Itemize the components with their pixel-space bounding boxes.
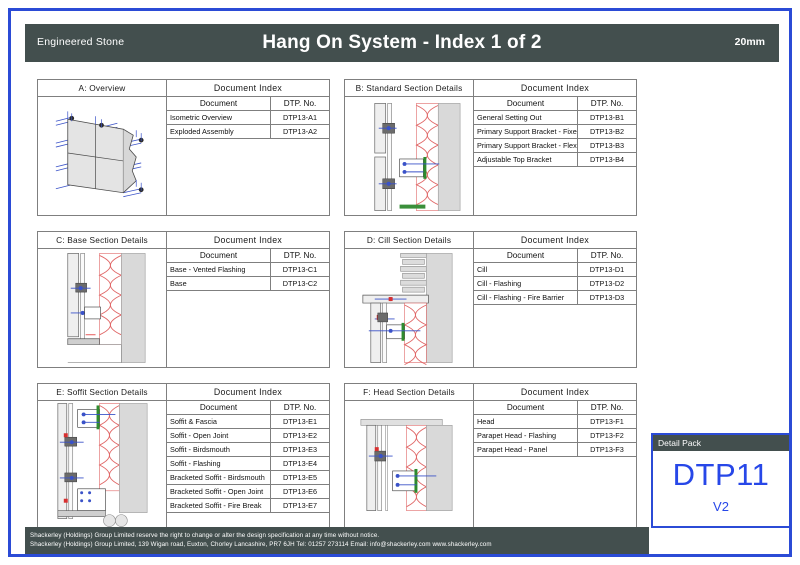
row-document: Soffit - Flashing bbox=[167, 457, 271, 471]
base-section-drawing[interactable] bbox=[38, 249, 167, 367]
row-number: DTP13-F3 bbox=[578, 443, 637, 457]
soffit-section-drawing[interactable] bbox=[38, 401, 167, 529]
row-document: Head bbox=[474, 415, 578, 429]
table-row[interactable]: Cill - Flashing - Fire Barrier DTP13-D3 bbox=[474, 291, 636, 305]
col-number: DTP. No. bbox=[271, 401, 330, 415]
table-row[interactable]: Bracketed Soffit - Fire Break DTP13-E7 bbox=[167, 499, 329, 513]
sheet-inner: Engineered Stone Hang On System - Index … bbox=[15, 15, 785, 550]
col-document: Document bbox=[474, 249, 578, 263]
row-number: DTP13-D2 bbox=[578, 277, 637, 291]
panel-e-soffit-section-details[interactable]: E: Soffit Section Details Document Index bbox=[37, 383, 330, 530]
row-number: DTP13-E5 bbox=[271, 471, 330, 485]
row-document: Bracketed Soffit - Birdsmouth bbox=[167, 471, 271, 485]
table-row[interactable]: Soffit & Fascia DTP13-E1 bbox=[167, 415, 329, 429]
col-document: Document bbox=[474, 401, 578, 415]
col-document: Document bbox=[167, 401, 271, 415]
document-index-heading: Document Index bbox=[474, 232, 636, 248]
detail-pack-label: Detail Pack bbox=[653, 435, 789, 451]
document-index-heading: Document Index bbox=[167, 80, 329, 96]
row-document: Bracketed Soffit - Open Joint bbox=[167, 485, 271, 499]
table-header-row: Document DTP. No. bbox=[474, 97, 636, 111]
panel-row: A: Overview Document Index bbox=[37, 79, 637, 216]
row-number: DTP13-B3 bbox=[578, 139, 637, 153]
table-row[interactable]: General Setting Out DTP13-B1 bbox=[474, 111, 636, 125]
row-number: DTP13-D1 bbox=[578, 263, 637, 277]
panel-body: Document DTP. No. Cill DTP13-D1 Cill - F… bbox=[345, 249, 636, 367]
col-number: DTP. No. bbox=[271, 249, 330, 263]
panel-d-cill-section-details[interactable]: D: Cill Section Details Document Index bbox=[344, 231, 637, 368]
row-document: Soffit - Birdsmouth bbox=[167, 443, 271, 457]
row-document: Cill - Flashing - Fire Barrier bbox=[474, 291, 578, 305]
detail-pack-version: V2 bbox=[653, 499, 789, 514]
panel-title: C: Base Section Details bbox=[38, 232, 167, 248]
footer-line-1: Shackerley (Holdings) Group Limited rese… bbox=[30, 531, 649, 540]
row-number: DTP13-F1 bbox=[578, 415, 637, 429]
col-number: DTP. No. bbox=[271, 97, 330, 111]
isometric-overview-drawing[interactable] bbox=[38, 97, 167, 215]
panel-header: A: Overview Document Index bbox=[38, 80, 329, 97]
footer-disclaimer: Shackerley (Holdings) Group Limited rese… bbox=[25, 527, 649, 554]
cill-section-drawing[interactable] bbox=[345, 249, 474, 367]
panel-b-standard-section-details[interactable]: B: Standard Section Details Document Ind… bbox=[344, 79, 637, 216]
document-index-table[interactable]: Document DTP. No. Head DTP13-F1 Parapet … bbox=[474, 401, 636, 457]
row-number: DTP13-C1 bbox=[271, 263, 330, 277]
row-number: DTP13-D3 bbox=[578, 291, 637, 305]
index-table-wrapper: Document DTP. No. Head DTP13-F1 Parapet … bbox=[474, 401, 636, 529]
row-number: DTP13-A2 bbox=[271, 125, 330, 139]
panel-row: C: Base Section Details Document Index bbox=[37, 231, 637, 368]
document-index-table[interactable]: Document DTP. No. Isometric Overview DTP… bbox=[167, 97, 329, 139]
col-document: Document bbox=[474, 97, 578, 111]
row-number: DTP13-E4 bbox=[271, 457, 330, 471]
row-number: DTP13-B2 bbox=[578, 125, 637, 139]
row-document: Base bbox=[167, 277, 271, 291]
panel-header: B: Standard Section Details Document Ind… bbox=[345, 80, 636, 97]
panel-header: D: Cill Section Details Document Index bbox=[345, 232, 636, 249]
row-number: DTP13-A1 bbox=[271, 111, 330, 125]
index-table-wrapper: Document DTP. No. Soffit & Fascia DTP13-… bbox=[167, 401, 329, 529]
table-row[interactable]: Isometric Overview DTP13-A1 bbox=[167, 111, 329, 125]
table-header-row: Document DTP. No. bbox=[474, 249, 636, 263]
panel-title: E: Soffit Section Details bbox=[38, 384, 167, 400]
index-table-wrapper: Document DTP. No. Isometric Overview DTP… bbox=[167, 97, 329, 215]
col-number: DTP. No. bbox=[578, 249, 637, 263]
table-row[interactable]: Soffit - Flashing DTP13-E4 bbox=[167, 457, 329, 471]
document-index-heading: Document Index bbox=[474, 384, 636, 400]
row-document: Exploded Assembly bbox=[167, 125, 271, 139]
table-header-row: Document DTP. No. bbox=[167, 97, 329, 111]
table-header-row: Document DTP. No. bbox=[474, 401, 636, 415]
row-number: DTP13-C2 bbox=[271, 277, 330, 291]
panel-body: Document DTP. No. Base - Vented Flashing… bbox=[38, 249, 329, 367]
col-document: Document bbox=[167, 97, 271, 111]
table-row[interactable]: Primary Support Bracket - Fixed Point DT… bbox=[474, 125, 636, 139]
row-document: Cill bbox=[474, 263, 578, 277]
row-number: DTP13-E6 bbox=[271, 485, 330, 499]
row-document: Parapet Head - Flashing bbox=[474, 429, 578, 443]
row-document: Primary Support Bracket - Fixed Point bbox=[474, 125, 578, 139]
panel-c-base-section-details[interactable]: C: Base Section Details Document Index bbox=[37, 231, 330, 368]
row-document: Soffit & Fascia bbox=[167, 415, 271, 429]
panel-body: Document DTP. No. Isometric Overview DTP… bbox=[38, 97, 329, 215]
document-index-table[interactable]: Document DTP. No. Soffit & Fascia DTP13-… bbox=[167, 401, 329, 513]
detail-pack-code: DTP11 bbox=[653, 457, 789, 493]
panel-grid: A: Overview Document Index bbox=[37, 79, 637, 545]
table-row[interactable]: Exploded Assembly DTP13-A2 bbox=[167, 125, 329, 139]
table-row[interactable]: Parapet Head - Panel DTP13-F3 bbox=[474, 443, 636, 457]
col-number: DTP. No. bbox=[578, 401, 637, 415]
panel-header: F: Head Section Details Document Index bbox=[345, 384, 636, 401]
row-number: DTP13-B1 bbox=[578, 111, 637, 125]
table-row[interactable]: Bracketed Soffit - Birdsmouth DTP13-E5 bbox=[167, 471, 329, 485]
document-index-table[interactable]: Document DTP. No. Base - Vented Flashing… bbox=[167, 249, 329, 291]
table-row[interactable]: Soffit - Open Joint DTP13-E2 bbox=[167, 429, 329, 443]
row-document: Primary Support Bracket - Flexi Point bbox=[474, 139, 578, 153]
table-row[interactable]: Base - Vented Flashing DTP13-C1 bbox=[167, 263, 329, 277]
page-title: Hang On System - Index 1 of 2 bbox=[25, 32, 779, 54]
document-index-table[interactable]: Document DTP. No. General Setting Out DT… bbox=[474, 97, 636, 167]
panel-title: F: Head Section Details bbox=[345, 384, 474, 400]
index-table-wrapper: Document DTP. No. Base - Vented Flashing… bbox=[167, 249, 329, 367]
row-document: Bracketed Soffit - Fire Break bbox=[167, 499, 271, 513]
row-number: DTP13-E2 bbox=[271, 429, 330, 443]
row-document: Cill - Flashing bbox=[474, 277, 578, 291]
table-row[interactable]: Adjustable Top Bracket DTP13-B4 bbox=[474, 153, 636, 167]
panel-body: Document DTP. No. Head DTP13-F1 Parapet … bbox=[345, 401, 636, 529]
panel-a-overview[interactable]: A: Overview Document Index bbox=[37, 79, 330, 216]
table-row[interactable]: Base DTP13-C2 bbox=[167, 277, 329, 291]
panel-header: C: Base Section Details Document Index bbox=[38, 232, 329, 249]
document-index-table[interactable]: Document DTP. No. Cill DTP13-D1 Cill - F… bbox=[474, 249, 636, 305]
panel-f-head-section-details[interactable]: F: Head Section Details Document Index bbox=[344, 383, 637, 530]
footer-line-2: Shackerley (Holdings) Group Limited, 139… bbox=[30, 540, 649, 549]
index-table-wrapper: Document DTP. No. Cill DTP13-D1 Cill - F… bbox=[474, 249, 636, 367]
table-header-row: Document DTP. No. bbox=[167, 249, 329, 263]
row-document: General Setting Out bbox=[474, 111, 578, 125]
row-number: DTP13-E7 bbox=[271, 499, 330, 513]
table-row[interactable]: Cill DTP13-D1 bbox=[474, 263, 636, 277]
drawing-sheet: Engineered Stone Hang On System - Index … bbox=[8, 8, 792, 557]
table-row[interactable]: Bracketed Soffit - Open Joint DTP13-E6 bbox=[167, 485, 329, 499]
thickness-label: 20mm bbox=[735, 36, 765, 48]
col-number: DTP. No. bbox=[578, 97, 637, 111]
table-header-row: Document DTP. No. bbox=[167, 401, 329, 415]
panel-title: B: Standard Section Details bbox=[345, 80, 474, 96]
row-document: Adjustable Top Bracket bbox=[474, 153, 578, 167]
panel-title: A: Overview bbox=[38, 80, 167, 96]
panel-body: Document DTP. No. Soffit & Fascia DTP13-… bbox=[38, 401, 329, 529]
document-index-heading: Document Index bbox=[167, 232, 329, 248]
document-index-heading: Document Index bbox=[474, 80, 636, 96]
table-row[interactable]: Soffit - Birdsmouth DTP13-E3 bbox=[167, 443, 329, 457]
row-document: Soffit - Open Joint bbox=[167, 429, 271, 443]
row-number: DTP13-E3 bbox=[271, 443, 330, 457]
row-document: Parapet Head - Panel bbox=[474, 443, 578, 457]
title-bar: Engineered Stone Hang On System - Index … bbox=[25, 24, 779, 62]
table-row[interactable]: Primary Support Bracket - Flexi Point DT… bbox=[474, 139, 636, 153]
panel-title: D: Cill Section Details bbox=[345, 232, 474, 248]
row-number: DTP13-E1 bbox=[271, 415, 330, 429]
panel-header: E: Soffit Section Details Document Index bbox=[38, 384, 329, 401]
table-row[interactable]: Parapet Head - Flashing DTP13-F2 bbox=[474, 429, 636, 443]
head-section-drawing[interactable] bbox=[345, 401, 474, 529]
row-document: Isometric Overview bbox=[167, 111, 271, 125]
row-number: DTP13-B4 bbox=[578, 153, 637, 167]
row-number: DTP13-F2 bbox=[578, 429, 637, 443]
row-document: Base - Vented Flashing bbox=[167, 263, 271, 277]
standard-section-drawing[interactable] bbox=[345, 97, 474, 215]
detail-pack-badge[interactable]: Detail Pack DTP11 V2 bbox=[651, 433, 791, 528]
panel-body: Document DTP. No. General Setting Out DT… bbox=[345, 97, 636, 215]
col-document: Document bbox=[167, 249, 271, 263]
table-row[interactable]: Head DTP13-F1 bbox=[474, 415, 636, 429]
panel-row: E: Soffit Section Details Document Index bbox=[37, 383, 637, 530]
table-row[interactable]: Cill - Flashing DTP13-D2 bbox=[474, 277, 636, 291]
document-index-heading: Document Index bbox=[167, 384, 329, 400]
index-table-wrapper: Document DTP. No. General Setting Out DT… bbox=[474, 97, 636, 215]
